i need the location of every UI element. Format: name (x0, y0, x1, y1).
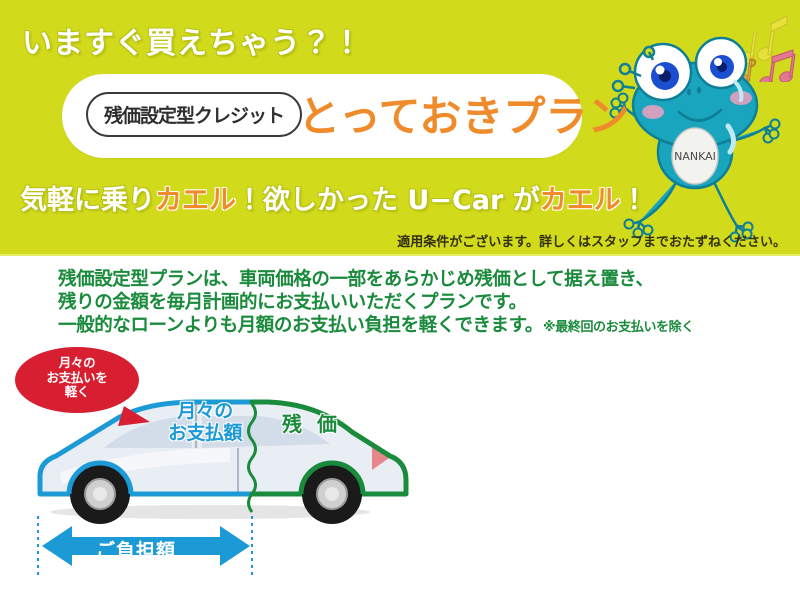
description-line-2: 残りの金額を毎月計画的にお支払いいただくプランです。 (58, 291, 778, 314)
advertisement-poster: いますぐ買えちゃう？！ (0, 0, 800, 600)
headline: いますぐ買えちゃう？！ (22, 18, 363, 62)
tagline-part2: ！欲しかった U−Car が (236, 185, 540, 216)
description-text: 残価設定型プランは、車両価格の一部をあらかじめ残価として据え置き、 残りの金額を… (58, 268, 778, 339)
disclaimer-note: 適用条件がございます。詳しくはスタッフまでおたずねください。 (397, 231, 786, 250)
credit-type-badge: 残価設定型クレジット (86, 92, 302, 137)
tagline-part1: 気軽に乗り (20, 185, 155, 216)
description-line-1: 残価設定型プランは、車両価格の一部をあらかじめ残価として据え置き、 (58, 268, 778, 291)
tagline-highlight1: カエル (155, 185, 236, 216)
car-diagram: 月々の お支払いを 軽く 月々の お支払額 残 価 ご負担額 (0, 344, 440, 594)
credit-type-label: 残価設定型クレジット (104, 101, 284, 128)
tagline-part3: ！ (621, 185, 648, 216)
car-label-residual-value: 残 価 (282, 408, 341, 437)
description-line-3: 一般的なローンよりも月額のお支払い負担を軽くできます。※最終回のお支払いを除く (58, 314, 778, 339)
content-section: 残価設定型プランは、車両価格の一部をあらかじめ残価として据え置き、 残りの金額を… (0, 256, 800, 600)
tagline: 気軽に乗りカエル！欲しかった U−Car がカエル！ (20, 178, 648, 217)
tagline-highlight2: カエル (540, 185, 621, 216)
burden-arrow-label: ご負担額 (96, 536, 176, 563)
banner-section: いますぐ買えちゃう？！ (0, 0, 800, 256)
description-line-3-main: 一般的なローンよりも月額のお支払い負担を軽くできます。 (58, 315, 543, 336)
mascot-belly-label: NANKAI (674, 150, 716, 163)
car-label-monthly-payment: 月々の お支払額 (140, 400, 270, 444)
plan-plaque: 残価設定型クレジット とっておきプラン (62, 74, 582, 158)
description-footnote: ※最終回のお支払いを除く (543, 320, 694, 335)
plan-title: とっておきプラン (298, 83, 629, 144)
